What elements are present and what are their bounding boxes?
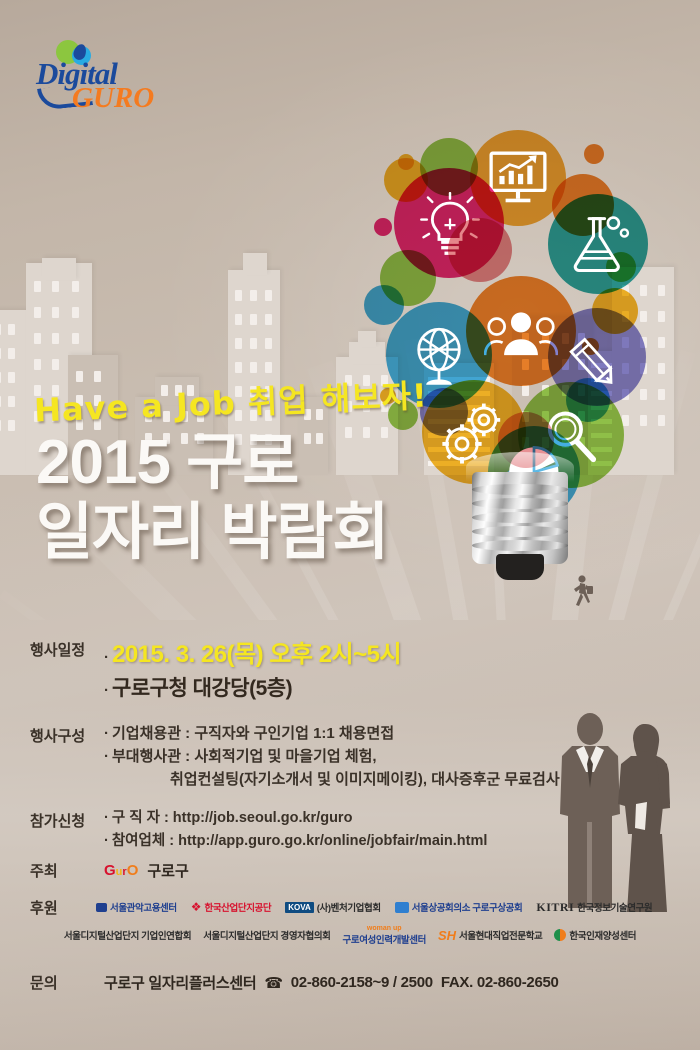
- label-contact: 문의: [0, 972, 100, 993]
- bullet: ·: [104, 748, 109, 765]
- digital-guro-logo[interactable]: Digital GURO: [36, 38, 186, 106]
- contact-phone: 02-860-2158~9 / 2500: [291, 974, 433, 991]
- apply-item-jobseeker[interactable]: ·구 직 자 : http://job.seoul.go.kr/guro: [104, 807, 700, 829]
- schedule-item-datetime: ·2015. 3. 26(목) 오후 2시~5시: [104, 636, 700, 673]
- bullet: ·: [104, 649, 109, 666]
- sponsor-seoul-hyundai-vocational-school: SH 서울현대직업전문학교: [438, 928, 542, 943]
- kova-chip: KOVA: [285, 902, 314, 913]
- poster-root: Digital GURO Have a Job 취업 해보자! 2015 구로 …: [0, 0, 700, 1050]
- apply-item-company[interactable]: ·참여업체 : http://app.guro.go.kr/online/job…: [104, 830, 700, 852]
- label-program: 행사구성: [0, 722, 100, 792]
- info-row-schedule: 행사일정 ·2015. 3. 26(목) 오후 2시~5시 ·구로구청 대강당(…: [0, 636, 700, 706]
- bullet: ·: [104, 810, 109, 826]
- info-row-apply: 참가신청 ·구 직 자 : http://job.seoul.go.kr/gur…: [0, 807, 700, 852]
- event-info-block: 행사일정 ·2015. 3. 26(목) 오후 2시~5시 ·구로구청 대강당(…: [0, 636, 700, 854]
- circle-icon: [554, 929, 566, 941]
- pencil-icon: [568, 328, 630, 386]
- program-item-1: ·기업채용관 : 구직자와 구인기업 1:1 채용면접: [104, 722, 700, 745]
- program-item-3: 취업컨설팅(자기소개서 및 이미지메이킹), 대사증후군 무료검사: [104, 768, 700, 791]
- sponsor-row-2: 서울디지털산업단지 기업인연합회 서울디지털산업단지 경영자협의회 woman …: [0, 924, 700, 946]
- chamber-icon: [395, 902, 409, 913]
- title-line-2: 일자리 박람회: [36, 498, 456, 568]
- woman-up-mark: woman up: [367, 925, 402, 932]
- sponsor-korea-talent-development-center: 한국인재양성센터: [554, 928, 636, 942]
- schedule-item-venue: ·구로구청 대강당(5층): [104, 673, 700, 706]
- walking-person-silhouette: [570, 575, 596, 613]
- sponsor-sdic-business-federation: 서울디지털산업단지 기업인연합회: [64, 928, 191, 942]
- bulb-screw-base: [472, 472, 568, 564]
- sponsors-block: 후원 서울관악고용센터 ❖ 한국산업단지공단 KOVA (사)벤처기업협회 서울…: [0, 896, 700, 946]
- contact-row: 문의 구로구 일자리플러스센터 ☎ 02-860-2158~9 / 2500 F…: [0, 972, 700, 993]
- label-host: 주최: [0, 860, 100, 881]
- info-row-program: 행사구성 ·기업채용관 : 구직자와 구인기업 1:1 채용면접 ·부대행사관 …: [0, 722, 700, 792]
- label-schedule: 행사일정: [0, 636, 100, 706]
- sponsor-kova-venture-association: KOVA (사)벤처기업협회: [285, 900, 380, 914]
- bullet: ·: [104, 833, 109, 849]
- sh-mark: SH: [438, 928, 456, 943]
- program-item-2: ·부대행사관 : 사회적기업 및 마을기업 체험,: [104, 745, 700, 768]
- kitri-wordmark: KITRI: [536, 900, 574, 915]
- bullet: ·: [104, 725, 109, 742]
- sponsor-seoul-gwanak-employment-center: 서울관악고용센터: [96, 900, 177, 914]
- telephone-icon: ☎: [264, 974, 282, 992]
- guro-logo-mark: GurO: [104, 862, 138, 879]
- bullet: ·: [104, 682, 109, 699]
- host-name: 구로구: [147, 860, 188, 881]
- page-title: 2015 구로 일자리 박람회: [36, 428, 456, 568]
- host-row: 주최 GurO 구로구: [0, 860, 700, 881]
- flask-icon: [566, 212, 632, 276]
- sponsor-kitri: KITRI 한국정보기술연구원: [536, 900, 652, 915]
- logo-word-guro: GURO: [72, 82, 154, 115]
- label-apply: 참가신청: [0, 807, 100, 852]
- title-line-1: 2015 구로: [36, 428, 456, 498]
- people-group-icon: [484, 310, 558, 358]
- sponsor-korea-industrial-complex: ❖ 한국산업단지공단: [191, 900, 272, 914]
- contact-fax: FAX. 02-860-2650: [441, 974, 559, 991]
- sponsor-row-1: 후원 서울관악고용센터 ❖ 한국산업단지공단 KOVA (사)벤처기업협회 서울…: [0, 896, 700, 918]
- sponsor-sdic-management-council: 서울디지털산업단지 경영자협의회: [203, 928, 330, 942]
- clover-icon: ❖: [191, 900, 202, 914]
- contact-org: 구로구 일자리플러스센터: [104, 972, 256, 993]
- sponsor-guro-chamber-of-commerce: 서울상공회의소 구로구상공회: [395, 900, 523, 914]
- bulb-tip: [496, 554, 544, 580]
- sponsor-guro-women-resources-center: woman up 구로여성인력개발센터: [343, 925, 426, 946]
